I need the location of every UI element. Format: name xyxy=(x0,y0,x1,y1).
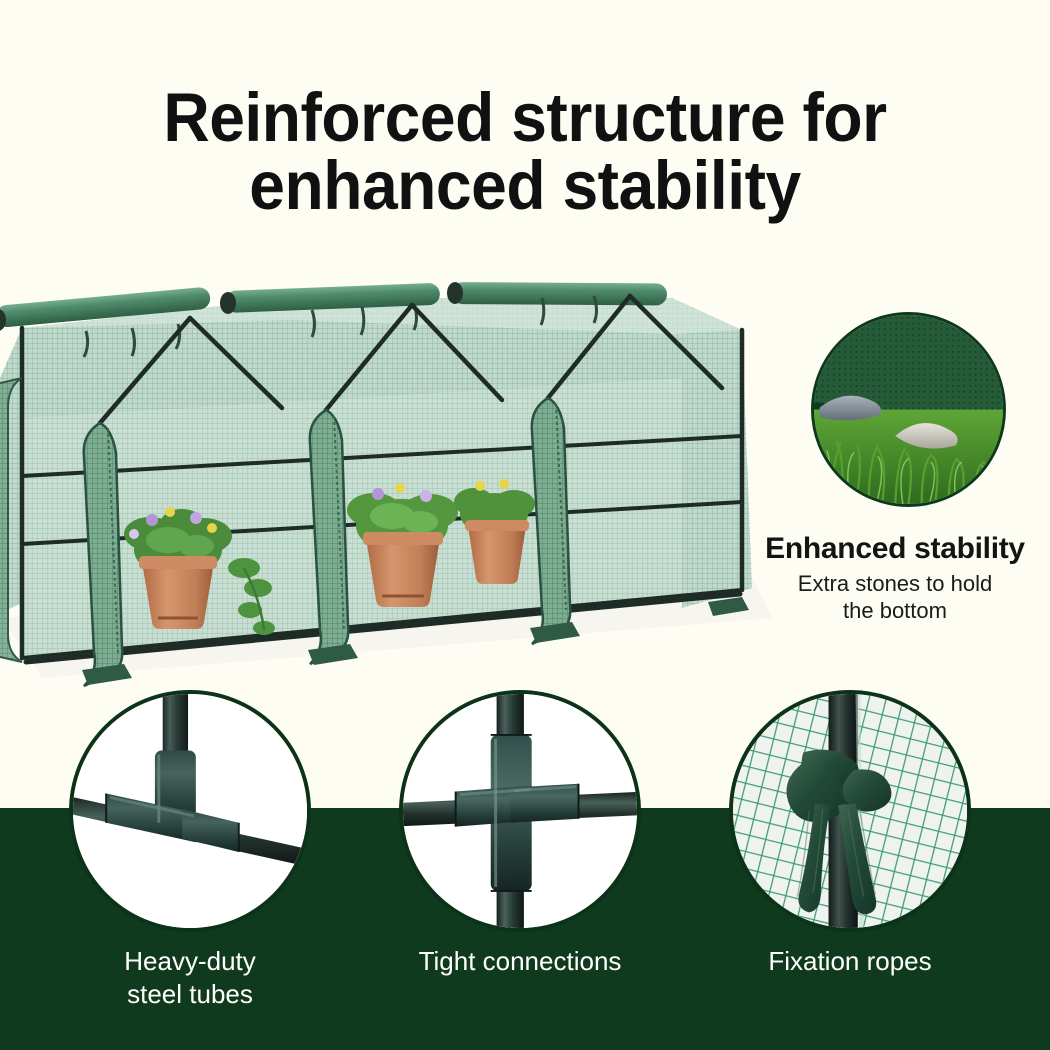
product-feature-banner: Reinforced structure for enhanced stabil… xyxy=(0,0,1050,1050)
rope-knot-illustration xyxy=(733,694,967,928)
stability-subtitle-line-1: Extra stones to hold xyxy=(798,571,992,596)
feature-label-line-1: Heavy-duty xyxy=(124,946,256,976)
heavy-duty-steel-tubes-photo xyxy=(69,690,311,932)
headline-line-2: enhanced stability xyxy=(37,152,1014,220)
stability-subtitle-line-2: the bottom xyxy=(843,598,947,623)
t-joint-illustration xyxy=(73,694,307,928)
stability-title: Enhanced stability xyxy=(740,532,1050,566)
feature-label-line-1: Tight connections xyxy=(419,946,622,976)
feature-label-line-2: steel tubes xyxy=(127,979,253,1009)
cross-joint-illustration xyxy=(403,694,637,928)
tight-connections-photo xyxy=(399,690,641,932)
enhanced-stability-caption: Enhanced stability Extra stones to hold … xyxy=(740,532,1050,624)
greenhouse-product-photo xyxy=(0,258,782,698)
feature-label-fixation-ropes: Fixation ropes xyxy=(700,945,1000,978)
feature-label-line-1: Fixation ropes xyxy=(768,946,931,976)
headline-line-1: Reinforced structure for xyxy=(37,84,1014,152)
fixation-ropes-photo xyxy=(729,690,971,932)
stability-subtitle: Extra stones to hold the bottom xyxy=(740,570,1050,625)
stones-on-grass-illustration xyxy=(814,315,1003,504)
feature-label-tight-connections: Tight connections xyxy=(370,945,670,978)
enhanced-stability-photo xyxy=(811,312,1006,507)
page-title: Reinforced structure for enhanced stabil… xyxy=(37,84,1014,221)
feature-label-heavy-duty-steel-tubes: Heavy-duty steel tubes xyxy=(40,945,340,1011)
greenhouse-illustration xyxy=(0,258,782,698)
